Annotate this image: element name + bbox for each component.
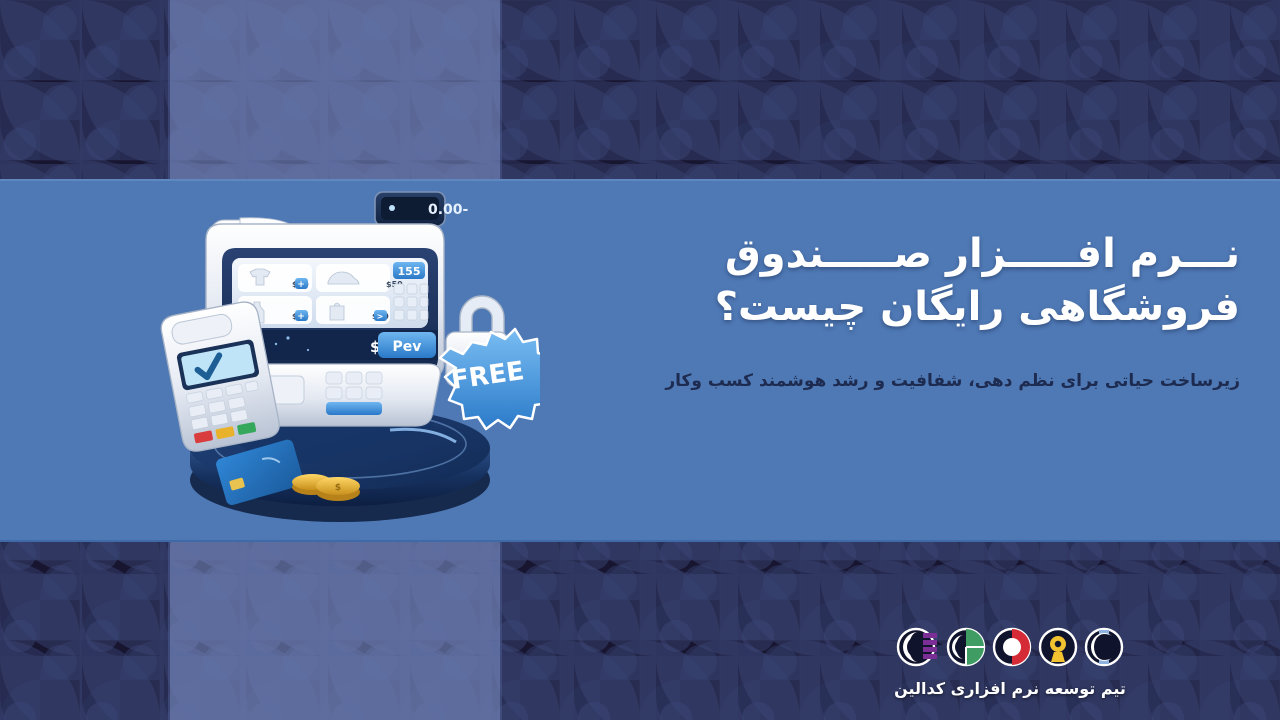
svg-text:<: < — [377, 312, 384, 321]
brand-logo-icons — [896, 627, 1124, 667]
led-display-text: -0.00 — [428, 202, 469, 218]
svg-text:$: $ — [335, 483, 341, 493]
svg-text:+: + — [297, 312, 305, 322]
green-crosshair-circle-icon — [946, 627, 986, 667]
page-title: نـــرم افـــــزار صـــــندوق فروشگاهی را… — [620, 228, 1240, 334]
purple-bars-circle-icon — [896, 627, 940, 667]
pay-button-text: Pev — [393, 339, 422, 355]
pos-cash-register-illustration: -0.00 $20 + $50 $10 — [140, 180, 540, 530]
page-subtitle: زیرساخت حیاتی برای نظم دهی، شفافیت و رشد… — [620, 368, 1240, 395]
split-red-circle-icon — [992, 627, 1032, 667]
lens-circle-icon — [1084, 627, 1124, 667]
keyhole-circle-icon — [1038, 627, 1078, 667]
brand-name-label: تیم توسعه نرم افزاری کدالین — [894, 679, 1126, 698]
counter-badge-text: 155 — [398, 265, 421, 278]
hero-copy: نـــرم افـــــزار صـــــندوق فروشگاهی را… — [620, 228, 1240, 395]
svg-text:+: + — [297, 280, 305, 290]
banner-stage: -0.00 $20 + $50 $10 — [0, 0, 1280, 720]
footer-brand: تیم توسعه نرم افزاری کدالین — [880, 627, 1140, 698]
